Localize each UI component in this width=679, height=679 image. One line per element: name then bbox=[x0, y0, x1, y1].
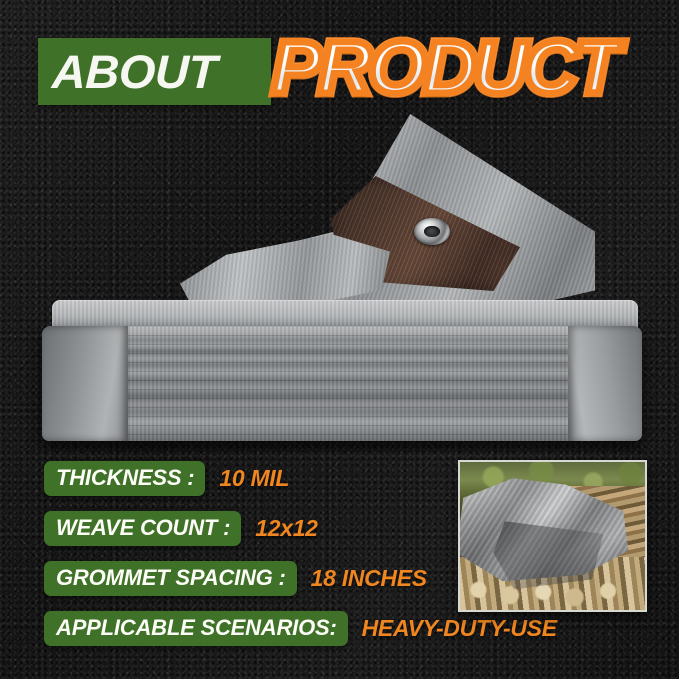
spec-row-weave-count: WEAVE COUNT : 12x12 bbox=[44, 511, 318, 546]
tarp-folded-stack bbox=[42, 326, 642, 441]
spec-label-applicable-scenarios: APPLICABLE SCENARIOS: bbox=[44, 611, 348, 646]
spec-row-applicable-scenarios: APPLICABLE SCENARIOS: HEAVY-DUTY-USE bbox=[44, 611, 557, 646]
spec-label-weave-count: WEAVE COUNT : bbox=[44, 511, 241, 546]
spec-value-weave-count: 12x12 bbox=[255, 515, 317, 542]
title-product: PRODUCT bbox=[272, 26, 617, 110]
spec-value-grommet-spacing: 18 INCHES bbox=[311, 565, 427, 592]
spec-label-grommet-spacing: GROMMET SPACING : bbox=[44, 561, 297, 596]
header: ABOUT PRODUCT PRODUCT bbox=[0, 0, 679, 118]
usage-inset-image bbox=[458, 460, 647, 612]
title-about: ABOUT bbox=[51, 44, 263, 100]
spec-row-grommet-spacing: GROMMET SPACING : 18 INCHES bbox=[44, 561, 427, 596]
spec-row-thickness: THICKNESS : 10 MIL bbox=[44, 461, 289, 496]
product-hero-image bbox=[0, 104, 679, 452]
spec-label-thickness: THICKNESS : bbox=[44, 461, 205, 496]
grommet-hole bbox=[424, 226, 439, 237]
tarp-fold-right-end bbox=[568, 326, 642, 441]
spec-value-applicable-scenarios: HEAVY-DUTY-USE bbox=[362, 615, 557, 642]
top-grommet-icon bbox=[414, 218, 450, 245]
infographic-canvas: ABOUT PRODUCT PRODUCT THICKNESS : 10 MIL bbox=[0, 0, 679, 679]
spec-value-thickness: 10 MIL bbox=[219, 465, 289, 492]
